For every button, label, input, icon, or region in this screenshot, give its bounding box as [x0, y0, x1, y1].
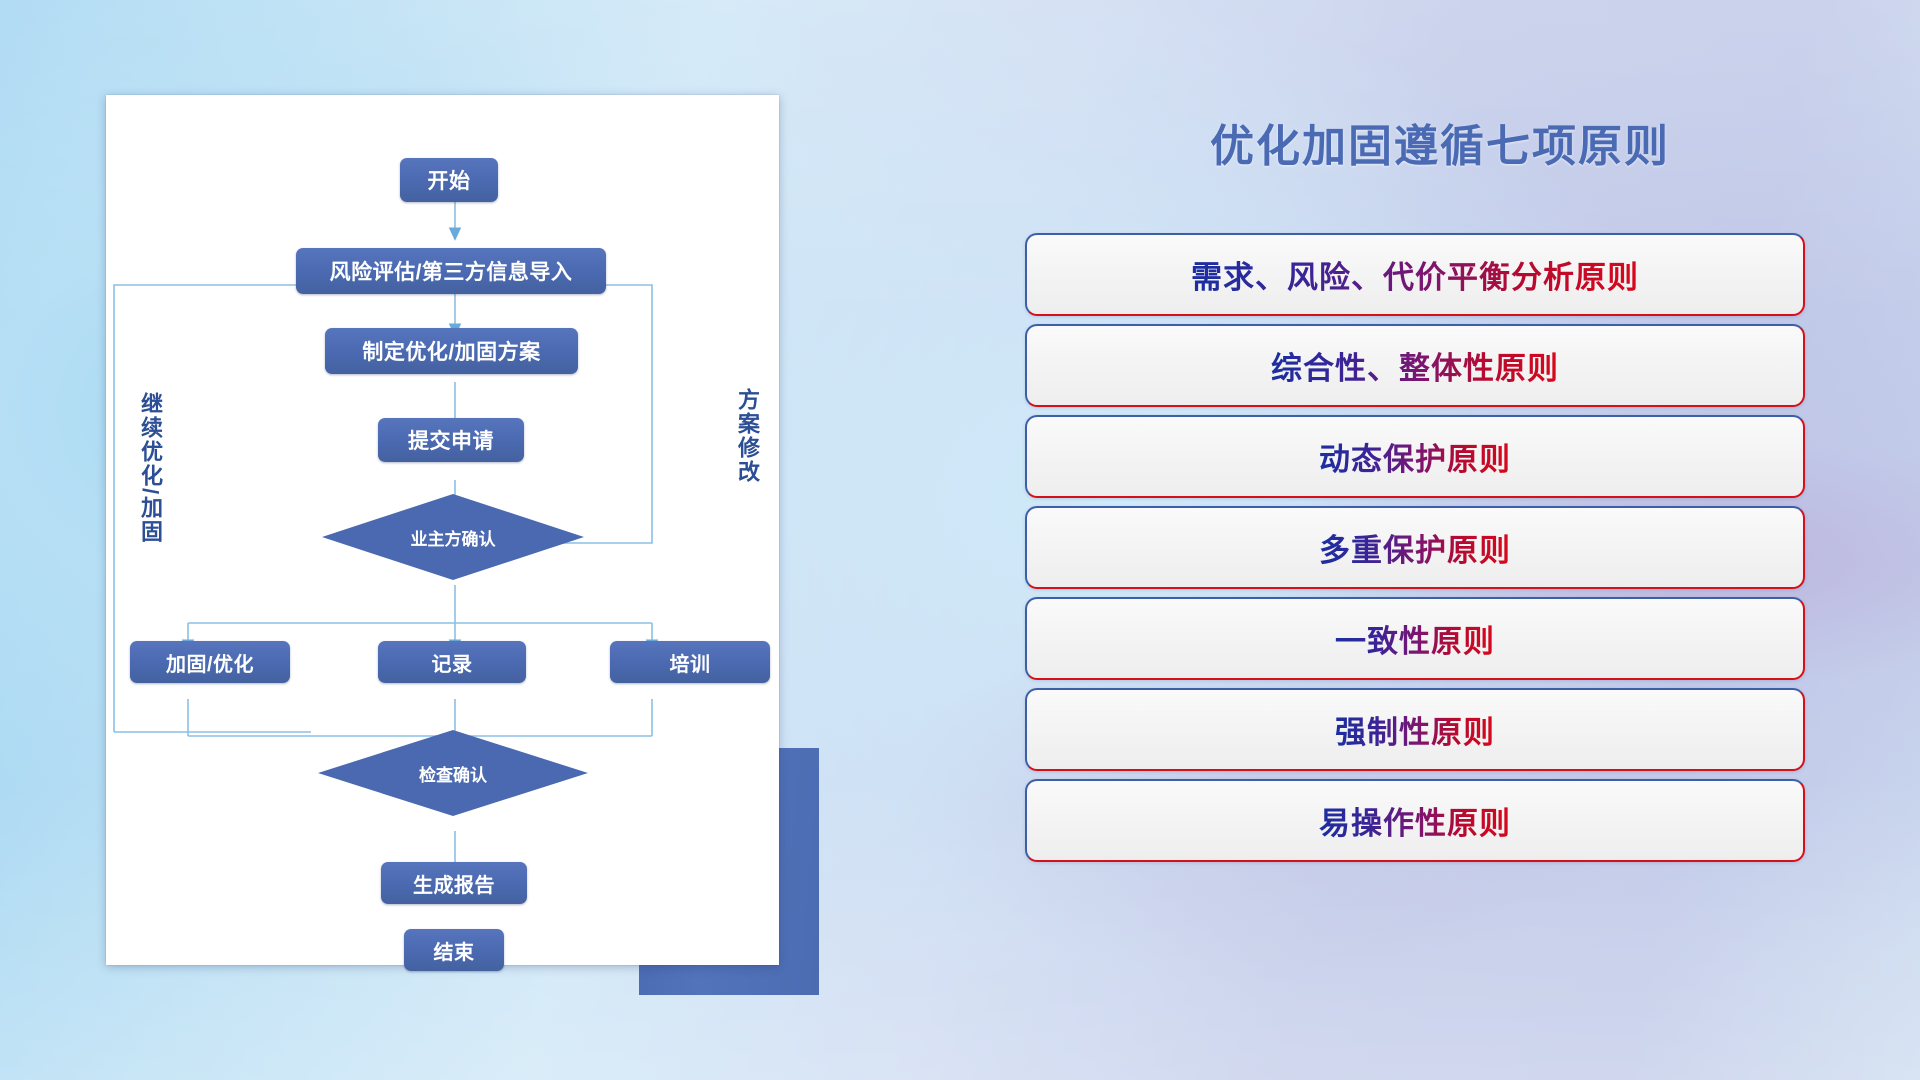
flow-node-reinforce[interactable]: 加固/优化	[130, 641, 290, 683]
principle-card[interactable]: 需求、风险、代价平衡分析原则	[1025, 233, 1805, 316]
principle-card[interactable]: 多重保护原则	[1025, 506, 1805, 589]
principle-card[interactable]: 动态保护原则	[1025, 415, 1805, 498]
flow-node-generate-report[interactable]: 生成报告	[381, 862, 527, 904]
principle-card[interactable]: 易操作性原则	[1025, 779, 1805, 862]
flow-node-start[interactable]: 开始	[400, 158, 498, 202]
flow-node-label: 风险评估/第三方信息导入	[330, 256, 573, 286]
flow-node-label: 培训	[670, 648, 711, 677]
flow-node-end[interactable]: 结束	[404, 929, 504, 971]
flow-node-label: 检查确认	[419, 761, 487, 786]
flow-node-risk-assessment[interactable]: 风险评估/第三方信息导入	[296, 248, 606, 294]
flowchart-panel: 开始 风险评估/第三方信息导入 制定优化/加固方案 提交申请 业主方确认 加固/…	[0, 0, 960, 1080]
flow-node-label: 提交申请	[408, 425, 494, 455]
principle-card[interactable]: 综合性、整体性原则	[1025, 324, 1805, 407]
flow-node-record[interactable]: 记录	[378, 641, 526, 683]
flow-node-training[interactable]: 培训	[610, 641, 770, 683]
principle-label: 多重保护原则	[1319, 525, 1511, 570]
principle-label: 一致性原则	[1335, 616, 1495, 661]
flow-node-plan[interactable]: 制定优化/加固方案	[325, 328, 578, 374]
flow-node-label: 制定优化/加固方案	[362, 336, 540, 366]
edge-label-plan-revision: 方案修改	[736, 388, 758, 484]
principle-label: 动态保护原则	[1319, 434, 1511, 479]
principle-label: 需求、风险、代价平衡分析原则	[1191, 252, 1639, 297]
principle-card[interactable]: 强制性原则	[1025, 688, 1805, 771]
principle-label: 强制性原则	[1335, 707, 1495, 752]
flow-node-label: 开始	[428, 165, 471, 195]
principle-card[interactable]: 一致性原则	[1025, 597, 1805, 680]
principles-title: 优化加固遵循七项原则	[960, 110, 1920, 174]
principle-label: 综合性、整体性原则	[1271, 343, 1559, 388]
flow-node-label: 生成报告	[413, 869, 495, 898]
flow-node-label: 结束	[434, 936, 475, 965]
principle-label: 易操作性原则	[1319, 798, 1511, 843]
flow-node-label: 记录	[432, 648, 473, 677]
flow-node-label: 加固/优化	[166, 648, 254, 677]
flow-node-label: 业主方确认	[411, 525, 496, 550]
edge-label-continue-optimize: 继续优化/加固	[139, 392, 161, 544]
flow-node-submit-application[interactable]: 提交申请	[378, 418, 524, 462]
